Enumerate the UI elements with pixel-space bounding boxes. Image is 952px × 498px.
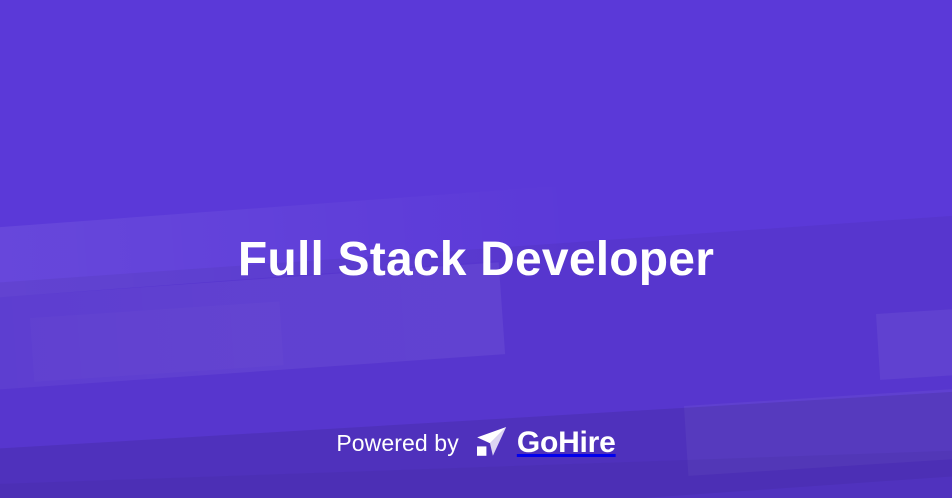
job-title: Full Stack Developer	[0, 228, 952, 292]
banner-content: Full Stack Developer Powered by GoHire	[0, 0, 952, 498]
paper-plane-icon	[473, 424, 511, 462]
gohire-wordmark: GoHire	[517, 426, 616, 460]
powered-by-footer: Powered by GoHire	[0, 424, 952, 462]
gohire-brand-link[interactable]: GoHire	[473, 424, 616, 462]
powered-by-label: Powered by	[336, 428, 458, 458]
job-banner: Full Stack Developer Powered by GoHire	[0, 0, 952, 498]
